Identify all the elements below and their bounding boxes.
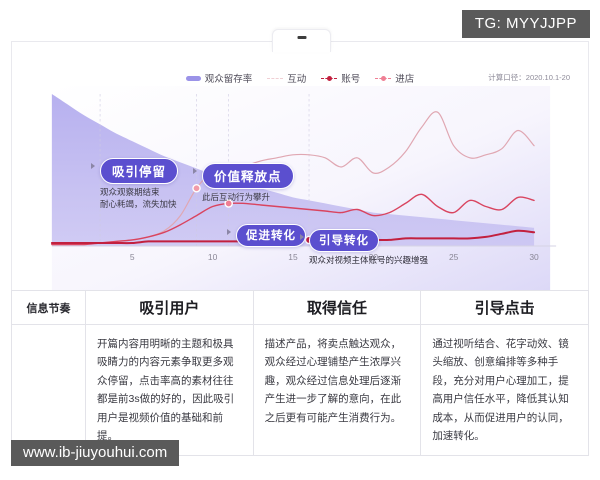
annotation-callout-3: 促进转化: [236, 224, 306, 247]
legend-item-retention[interactable]: 观众留存率: [186, 71, 253, 85]
card-drag-handle[interactable]: [272, 29, 331, 52]
svg-text:5: 5: [130, 252, 135, 262]
table-col-header-3: 引导点击: [421, 291, 589, 325]
annotation-title-4: 引导转化: [309, 229, 379, 252]
svg-text:30: 30: [529, 252, 539, 262]
legend-swatch-shop-icon: [375, 78, 391, 79]
annotation-sub-4a: 观众对视频主体账号的兴趣增强: [309, 254, 428, 266]
svg-text:15: 15: [288, 252, 298, 262]
content-card: 观众留存率 互动 账号 进店 计算口径：2020.10.1-20: [11, 41, 589, 450]
table-cell-body-2: 描述产品，将卖点触达观众，观众经过心理铺垫产生浓厚兴趣，观众经过信息处理后逐渐产…: [253, 325, 421, 456]
annotation-title-3: 促进转化: [236, 224, 306, 247]
tg-watermark-badge: TG: MYYJJPP: [462, 10, 590, 38]
chart-svg: 51015202530: [12, 86, 588, 291]
legend-swatch-interaction-icon: [267, 78, 283, 79]
annotation-sub-2a: 此后互动行为攀升: [202, 191, 294, 203]
legend-swatch-account-icon: [321, 78, 337, 79]
legend-label-shop: 进店: [395, 71, 414, 85]
legend-label-retention: 观众留存率: [205, 71, 253, 85]
annotation-marker-icon: [227, 229, 231, 235]
annotation-callout-1: 吸引停留 观众观察期结束 耐心耗竭，流失加快: [100, 158, 178, 211]
chart-plot-area: 51015202530: [12, 86, 588, 291]
stage-table: 信息节奏 吸引用户 取得信任 引导点击 开篇内容用明晰的主题和极具吸睛力的内容元…: [11, 290, 589, 456]
legend-swatch-retention-icon: [186, 76, 201, 81]
legend-item-shop[interactable]: 进店: [375, 71, 414, 85]
calculation-scope-note: 计算口径：2020.10.1-20: [488, 72, 570, 83]
table-cell-rowhead-spacer: [12, 325, 86, 456]
svg-text:10: 10: [208, 252, 218, 262]
legend-item-interaction[interactable]: 互动: [267, 71, 306, 85]
annotation-marker-icon: [300, 234, 304, 240]
chart-panel: 观众留存率 互动 账号 进店 计算口径：2020.10.1-20: [12, 42, 588, 291]
annotation-marker-icon: [91, 163, 95, 169]
annotation-title-2: 价值释放点: [202, 163, 294, 189]
handle-dash-icon: [297, 36, 306, 39]
table-col-header-1: 吸引用户: [86, 291, 254, 325]
legend-label-interaction: 互动: [287, 71, 306, 85]
table-row-header-label: 信息节奏: [12, 291, 86, 325]
annotation-sub-1b: 耐心耗竭，流失加快: [100, 198, 178, 210]
table-cell-body-3: 通过视听结合、花字动效、镜头缩放、创意编排等多种手段，充分对用户心理加工，提高用…: [421, 325, 589, 456]
site-watermark: www.ib-jiuyouhui.com: [11, 440, 179, 466]
annotation-title-1: 吸引停留: [100, 158, 178, 184]
table-col-header-2: 取得信任: [253, 291, 421, 325]
annotation-marker-icon: [193, 168, 197, 174]
legend-item-account[interactable]: 账号: [321, 71, 360, 85]
legend-label-account: 账号: [341, 71, 360, 85]
svg-text:25: 25: [449, 252, 459, 262]
annotation-sub-1a: 观众观察期结束: [100, 186, 178, 198]
table-row: 开篇内容用明晰的主题和极具吸睛力的内容元素争取更多观众停留，点击率高的素材往往都…: [12, 325, 589, 456]
annotation-callout-2: 价值释放点 此后互动行为攀升: [202, 163, 294, 203]
table-cell-body-1: 开篇内容用明晰的主题和极具吸睛力的内容元素争取更多观众停留，点击率高的素材往往都…: [86, 325, 254, 456]
annotation-callout-4: 引导转化 观众对视频主体账号的兴趣增强: [309, 229, 428, 266]
table-header-row: 信息节奏 吸引用户 取得信任 引导点击: [12, 291, 589, 325]
